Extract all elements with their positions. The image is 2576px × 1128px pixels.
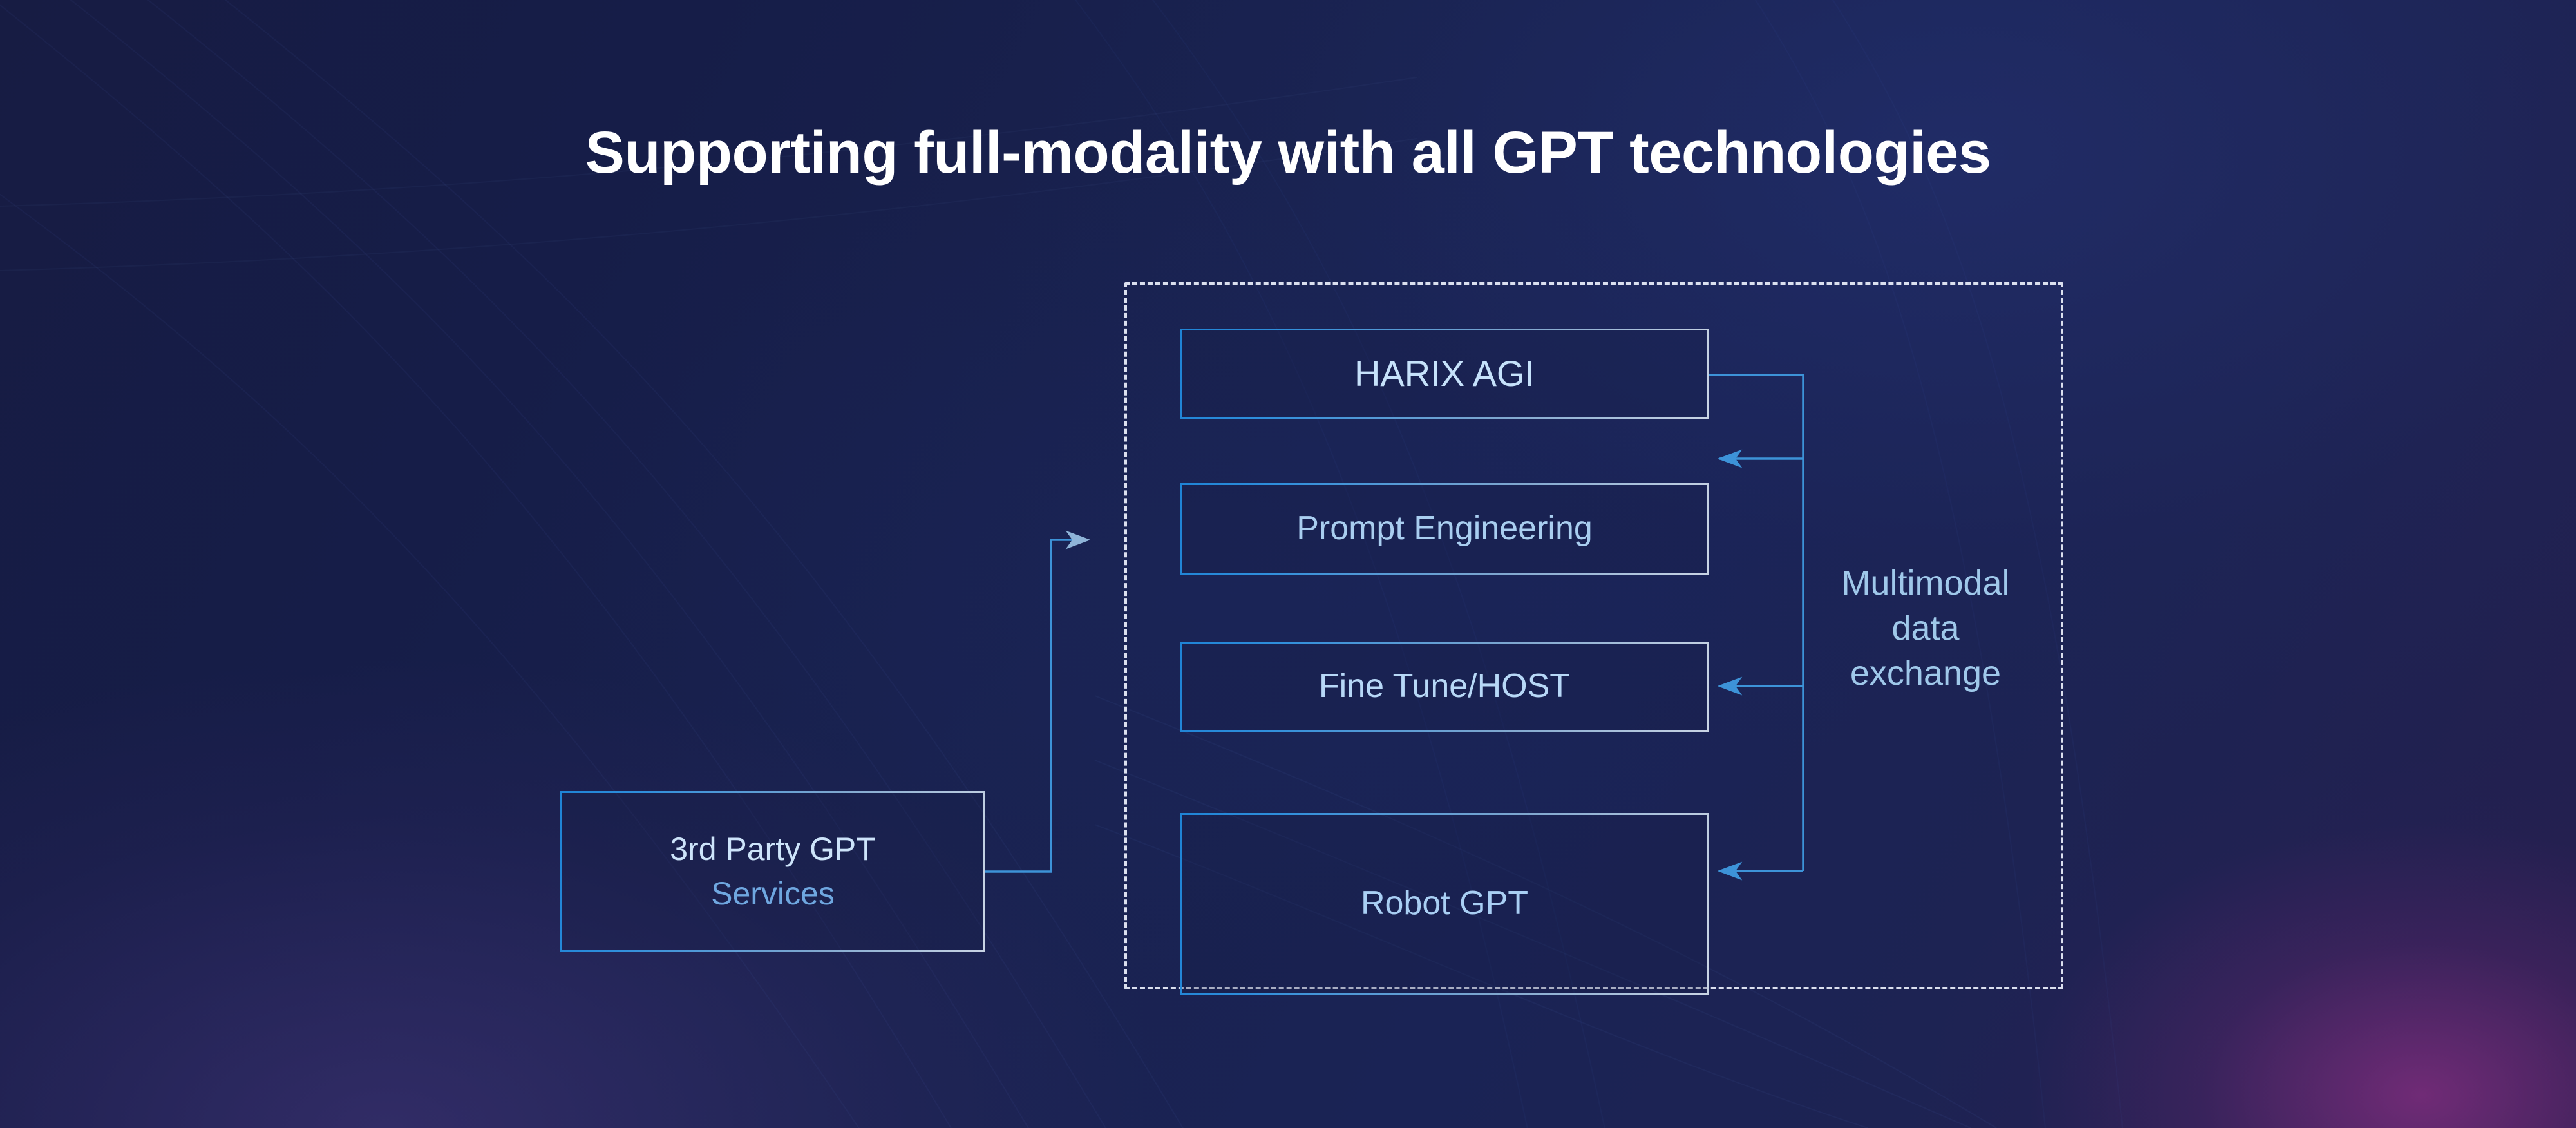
node-harix-agi-label: HARIX AGI <box>1354 352 1535 395</box>
connector-third-party-to-group <box>985 540 1088 872</box>
node-third-party-line2: Services <box>711 872 835 916</box>
node-third-party-line1: 3rd Party GPT <box>670 827 876 872</box>
node-third-party-gpt-services[interactable]: 3rd Party GPT Services <box>560 791 985 952</box>
node-prompt-engineering[interactable]: Prompt Engineering <box>1180 483 1709 575</box>
node-fine-tune-host[interactable]: Fine Tune/HOST <box>1180 642 1709 732</box>
multimodal-data-exchange-caption: Multimodal data exchange <box>1797 560 2054 696</box>
page-title: Supporting full-modality with all GPT te… <box>0 119 2576 187</box>
node-robot-gpt[interactable]: Robot GPT <box>1180 813 1709 995</box>
node-harix-agi[interactable]: HARIX AGI <box>1180 329 1709 419</box>
caption-line-2: data <box>1797 606 2054 651</box>
caption-line-1: Multimodal <box>1797 560 2054 606</box>
slide-canvas: Supporting full-modality with all GPT te… <box>0 0 2576 1128</box>
node-fine-tune-host-label: Fine Tune/HOST <box>1319 667 1570 706</box>
node-robot-gpt-label: Robot GPT <box>1361 884 1528 923</box>
caption-line-3: exchange <box>1797 651 2054 696</box>
node-prompt-engineering-label: Prompt Engineering <box>1296 509 1593 548</box>
